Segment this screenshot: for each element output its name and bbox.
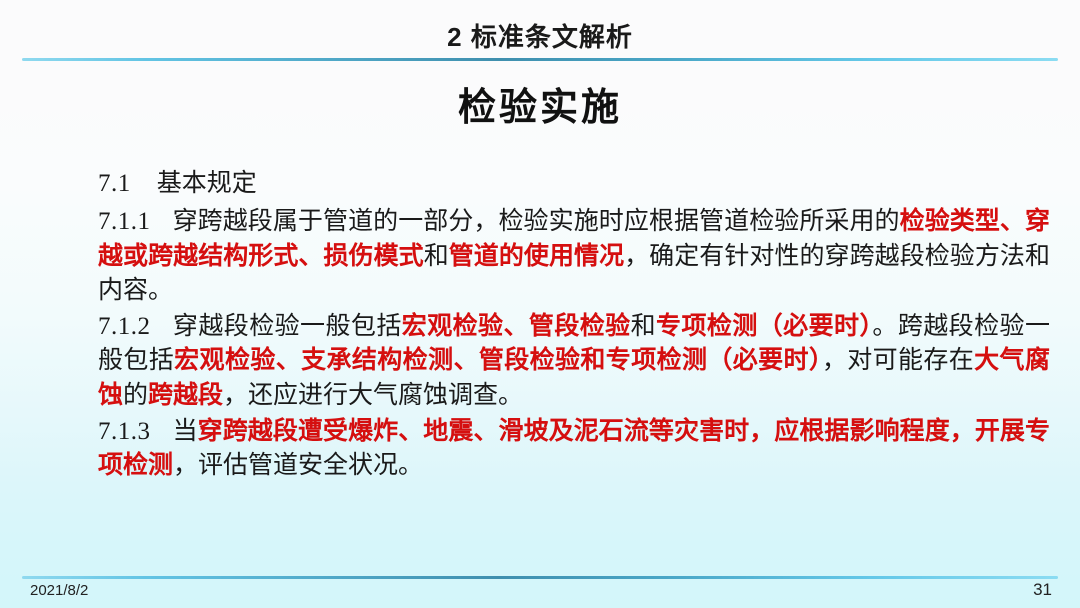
footer-date: 2021/8/2 bbox=[30, 582, 88, 599]
clause-text-black-2: ，评估管道安全状况。 bbox=[173, 452, 423, 479]
body-content: 7.1基本规定 7.1.1穿跨越段属于管道的一部分，检验实施时应根据管道检验所采… bbox=[30, 166, 1050, 483]
slide: 2 标准条文解析 检验实施 7.1基本规定 7.1.1穿跨越段属于管道的一部分，… bbox=[0, 0, 1080, 608]
clause-text-black-1: 穿跨越段属于管道的一部分，检验实施时应根据管道检验所采用的 bbox=[173, 208, 900, 235]
clause-text-black-2: 和 bbox=[631, 313, 656, 340]
clause-text-black-6: ，还应进行大气腐蚀调查。 bbox=[223, 382, 523, 409]
clause-text-red-1: 宏观检验、管段检验 bbox=[402, 313, 631, 340]
clause-text-red-2: 管道的使用情况 bbox=[449, 243, 624, 270]
clause-7-1-1: 7.1.1穿跨越段属于管道的一部分，检验实施时应根据管道检验所采用的检验类型、穿… bbox=[30, 205, 1050, 308]
clause-text-black-1: 当 bbox=[173, 418, 198, 445]
page-title: 检验实施 bbox=[0, 76, 1080, 131]
footer-divider bbox=[22, 576, 1058, 579]
clause-number: 7.1.3 bbox=[98, 418, 151, 445]
clause-text-black-1: 穿越段检验一般包括 bbox=[173, 313, 402, 340]
clause-text-black-2: 和 bbox=[424, 243, 449, 270]
footer-page-number: 31 bbox=[1033, 580, 1052, 600]
clause-text-black-5: 的 bbox=[123, 382, 148, 409]
section-heading-label: 基本规定 bbox=[157, 170, 257, 197]
clause-text-red-5: 跨越段 bbox=[148, 382, 223, 409]
clause-text-black-4: ，对可能存在 bbox=[822, 347, 974, 374]
clause-text-red-3: 宏观检验、支承结构检测、管段检验和专项检测（必要时） bbox=[174, 347, 822, 374]
section-heading: 7.1基本规定 bbox=[30, 166, 1050, 202]
section-heading-number: 7.1 bbox=[98, 170, 131, 197]
clause-number: 7.1.2 bbox=[98, 313, 151, 340]
clause-7-1-3: 7.1.3当穿跨越段遭受爆炸、地震、滑坡及泥石流等灾害时，应根据影响程度，开展专… bbox=[30, 415, 1050, 484]
header-title: 2 标准条文解析 bbox=[0, 17, 1080, 54]
clause-7-1-2: 7.1.2穿越段检验一般包括宏观检验、管段检验和专项检测（必要时）。跨越段检验一… bbox=[30, 310, 1050, 413]
header-divider bbox=[22, 58, 1058, 61]
clause-text-red-2: 专项检测（必要时） bbox=[656, 313, 872, 340]
clause-number: 7.1.1 bbox=[98, 208, 151, 235]
